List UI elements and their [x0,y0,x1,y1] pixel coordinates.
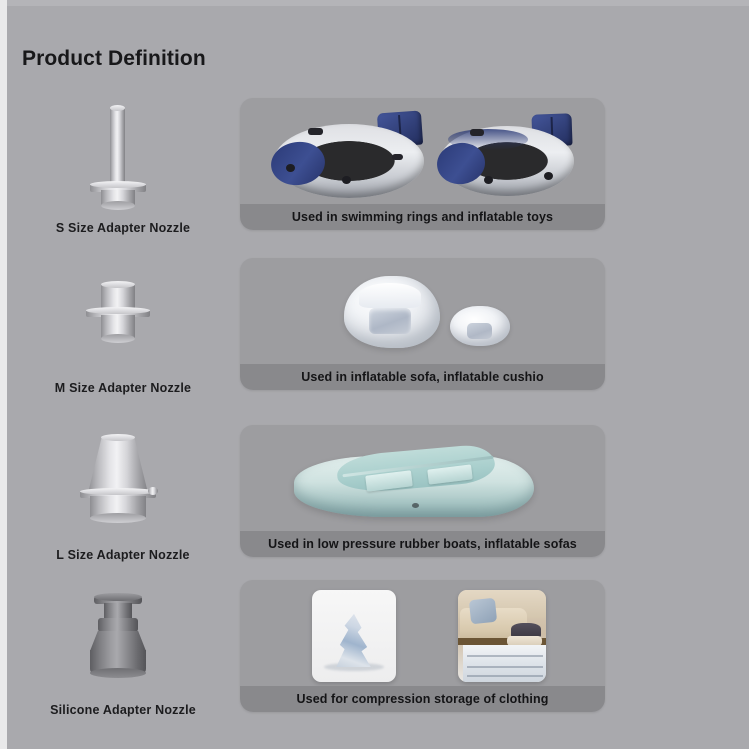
caption-text: Used for compression storage of clothing [297,692,549,706]
inflatable-sofa-photo[interactable]: Used in inflatable sofa, inflatable cush… [240,258,605,390]
photo-stage [240,580,605,686]
compressed-clothing-pile [330,614,377,667]
ring-valve [484,176,493,184]
s-size-adapter-nozzle-icon [18,98,228,198]
nozzle-label-s-size: S Size Adapter Nozzle [18,221,228,235]
swimming-rings-photo[interactable]: Used in swimming rings and inflatable to… [240,98,605,230]
m-size-adapter-nozzle-icon [18,258,228,358]
bag-seam [467,675,543,677]
photo-stage [240,425,605,531]
nozzle-label-l-size: L Size Adapter Nozzle [18,548,228,562]
swimming-ring-right [440,126,574,196]
compression-storage-photo[interactable]: Used for compression storage of clothing [240,580,605,712]
caption-text: Used in inflatable sofa, inflatable cush… [301,370,543,384]
photo-stage [240,98,605,204]
photo-stage [240,258,605,364]
rubber-boat-photo[interactable]: Used in low pressure rubber boats, infla… [240,425,605,557]
compressed-clothing-thumb [312,590,396,682]
page-title: Product Definition [22,47,206,71]
swimming-ring-left [274,124,424,198]
ring-valve [544,172,553,180]
nozzle-cell-s-size: S Size Adapter Nozzle [18,98,228,233]
folded-bedding-room-thumb [458,590,546,682]
vacuum-storage-bags [463,645,546,682]
ring-handle [470,129,484,136]
sofa-seat-cushion [369,308,411,334]
ring-valve [342,176,351,184]
nozzle-label-m-size: M Size Adapter Nozzle [18,381,228,395]
inflatable-cushion-small [450,306,510,346]
nozzle-cell-l-size: L Size Adapter Nozzle [18,425,228,560]
nozzle-cell-m-size: M Size Adapter Nozzle [18,258,228,393]
nozzle-label-silicone: Silicone Adapter Nozzle [18,703,228,717]
top-edge-band [0,0,749,6]
caption-bar-l-size: Used in low pressure rubber boats, infla… [240,531,605,557]
nozzle-cell-silicone: Silicone Adapter Nozzle [18,580,228,715]
caption-bar-silicone: Used for compression storage of clothing [240,686,605,712]
sofa-backrest [359,283,420,307]
caption-text: Used in swimming rings and inflatable to… [292,210,553,224]
boat-valve [412,503,419,508]
bag-seam [467,666,543,668]
inflatable-rubber-boat [294,443,534,517]
caption-bar-m-size: Used in inflatable sofa, inflatable cush… [240,364,605,390]
sofa-pillow [469,598,498,625]
cushion-seat [467,323,492,339]
product-definition-page: Product Definition S Size Adapter Nozzle [0,0,749,749]
bag-seam [467,655,543,657]
left-edge-margin [0,0,7,749]
l-size-adapter-nozzle-icon [18,425,228,525]
ring-handle [308,128,323,135]
inflatable-sofa-large [344,276,440,348]
ring-valve [286,164,295,172]
ring-handle [392,154,403,160]
caption-bar-s-size: Used in swimming rings and inflatable to… [240,204,605,230]
silicone-adapter-nozzle-icon [18,580,228,680]
caption-text: Used in low pressure rubber boats, infla… [268,537,577,551]
ring-blue-rim [448,129,528,150]
